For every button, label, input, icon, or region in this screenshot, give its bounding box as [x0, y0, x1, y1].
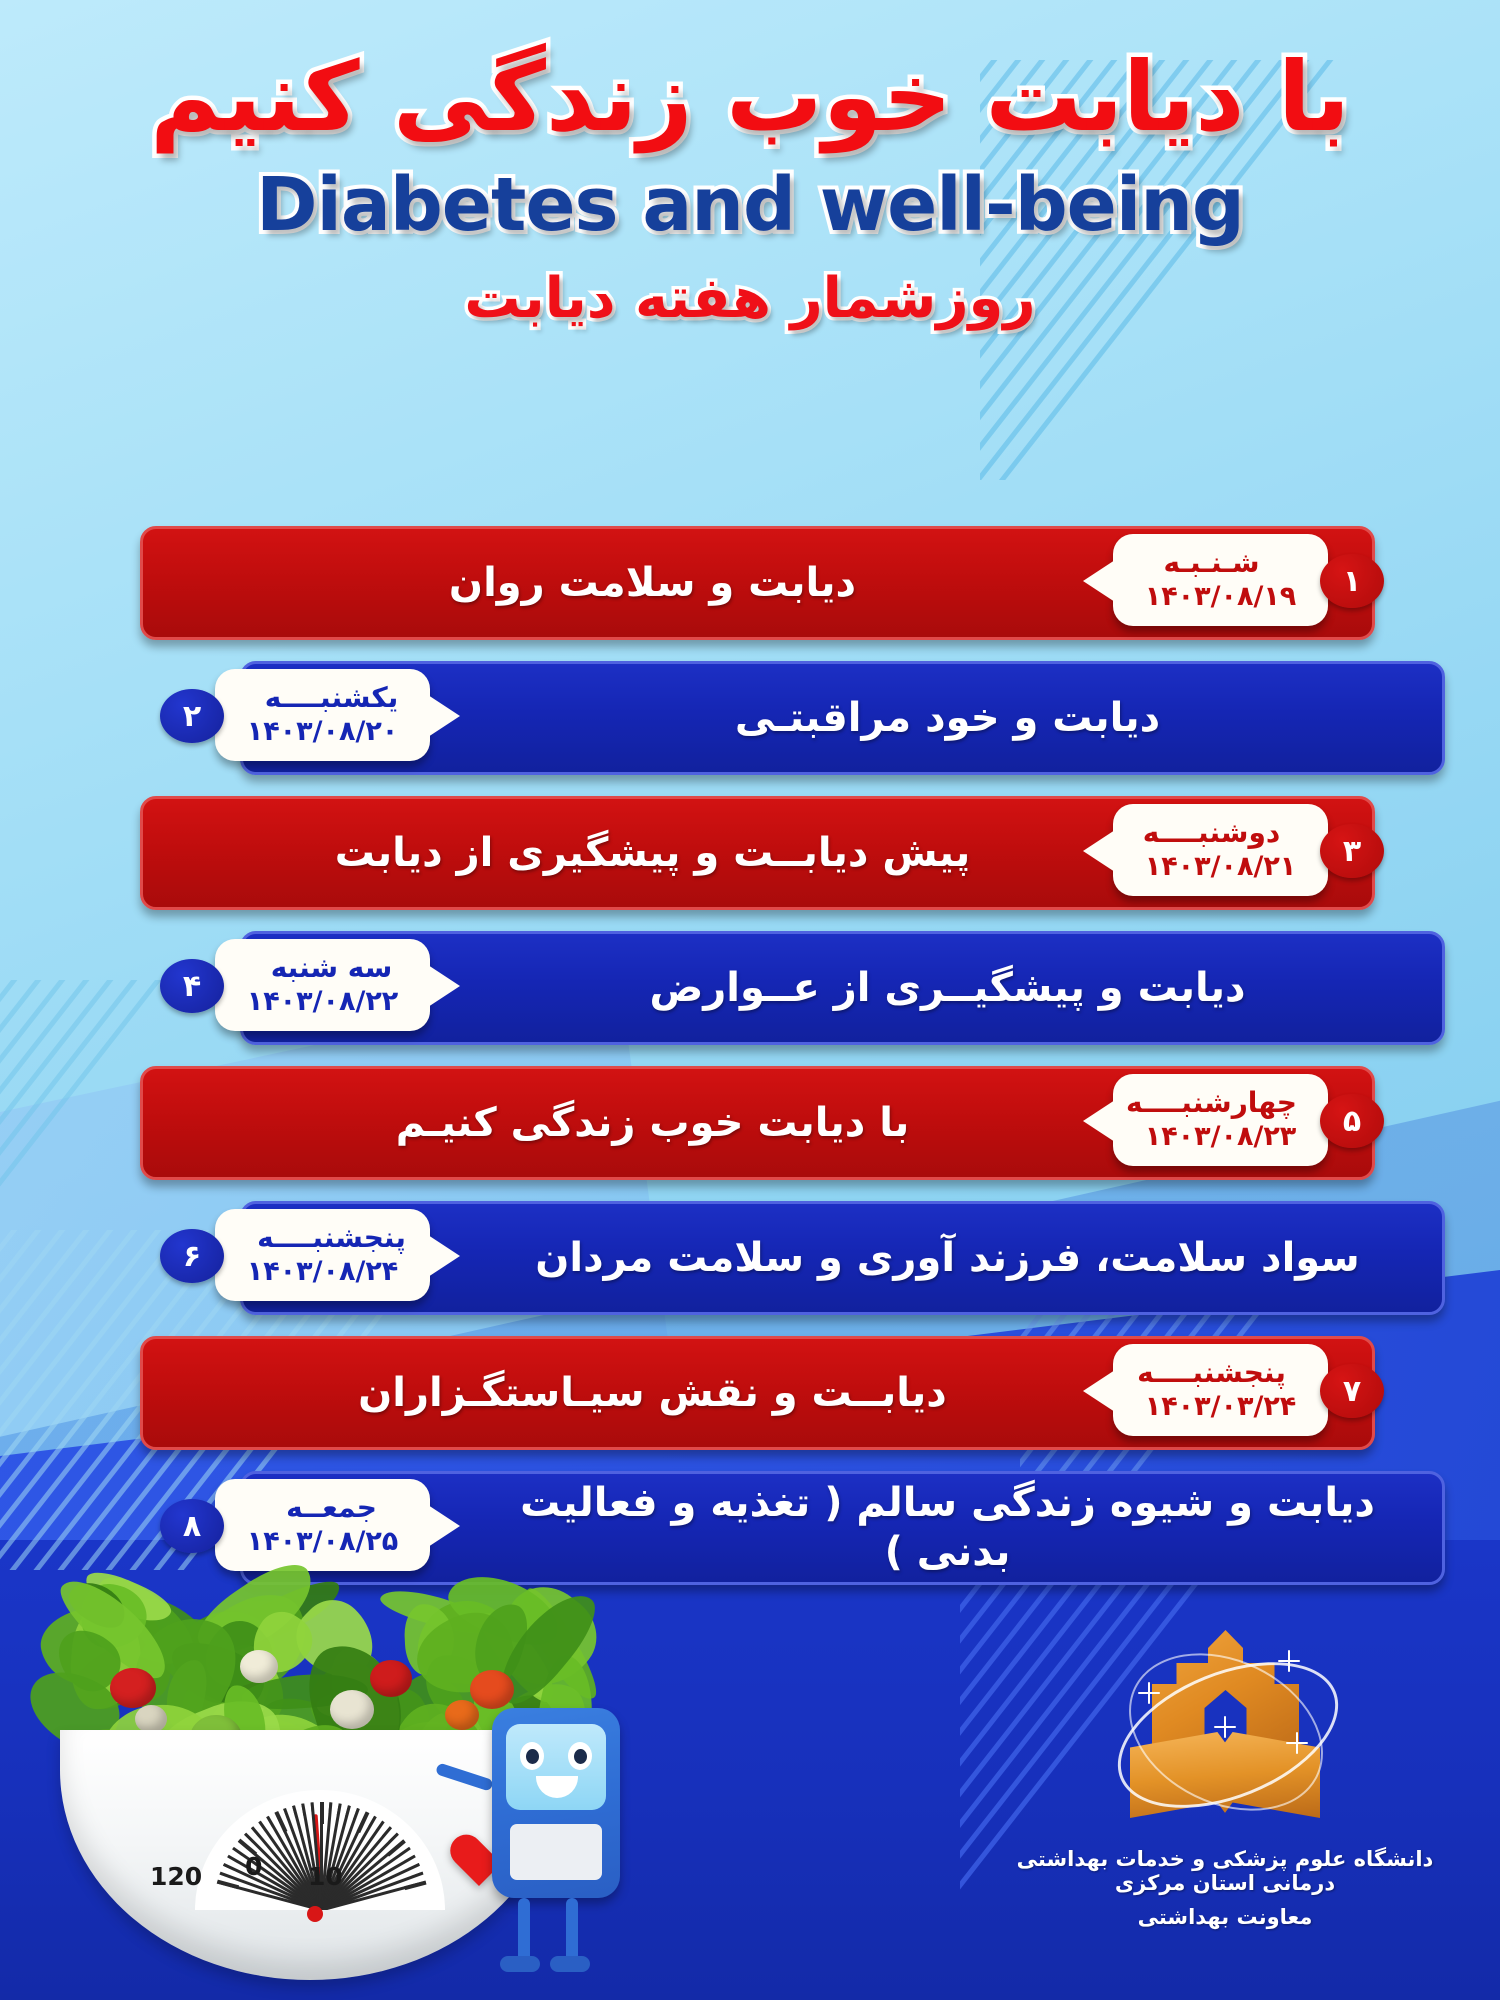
- university-logo: [1110, 1620, 1340, 1835]
- schedule-number-badge: ۳: [1320, 824, 1384, 878]
- mascot-pupil-left: [526, 1749, 539, 1764]
- mascot-face-screen: [506, 1724, 606, 1810]
- scale-needle-hub: [307, 1906, 323, 1922]
- schedule-date-label: ۱۴۰۳/۰۸/۲۲: [247, 986, 399, 1017]
- schedule-number-badge: ۶: [160, 1229, 224, 1283]
- schedule-row: دیابــت و نقش سیـاستگـزارانپنجشنبــــه۱۴…: [0, 1330, 1500, 1455]
- schedule-date-label: ۱۴۰۳/۰۸/۲۱: [1145, 851, 1297, 882]
- mascot-foot-right: [550, 1956, 590, 1972]
- footer-block: دانشگاه علوم پزشکی و خدمات بهداشتی درمان…: [1010, 1620, 1440, 1929]
- schedule-row: پیش دیابــت و پیشگیری از دیابتدوشنبــــه…: [0, 790, 1500, 915]
- schedule-date-bubble: سه شنبه۱۴۰۳/۰۸/۲۲: [215, 939, 430, 1031]
- schedule-day-label: پنجشنبــــه: [257, 1223, 406, 1254]
- schedule-list: دیابت و سلامت روانشـنـبـه۱۴۰۳/۰۸/۱۹۱دیاب…: [0, 520, 1500, 1600]
- schedule-day-label: یکشنبــــه: [265, 683, 398, 714]
- mascot-leg-right: [566, 1898, 578, 1962]
- mascot-test-strip: [510, 1824, 602, 1880]
- mascot-eye-right: [568, 1742, 592, 1770]
- schedule-day-label: شـنـبـه: [1163, 548, 1259, 579]
- schedule-number-badge: ۲: [160, 689, 224, 743]
- schedule-row: دیابت و خود مراقبتـییکشنبــــه۱۴۰۳/۰۸/۲۰…: [0, 655, 1500, 780]
- page-subtitle-fa: روزشمار هفته دیابت: [0, 266, 1500, 331]
- scale-dial: [195, 1790, 445, 1910]
- schedule-day-label: چهارشنبــــه: [1126, 1088, 1297, 1119]
- schedule-number-badge: ۵: [1320, 1094, 1384, 1148]
- sparkle-icon: [1286, 1732, 1308, 1754]
- mascot-pupil-right: [574, 1749, 587, 1764]
- schedule-number-badge: ۱: [1320, 554, 1384, 608]
- scale-number-left: 120: [150, 1862, 202, 1891]
- schedule-date-bubble: پنجشنبــــه۱۴۰۳/۰۳/۲۴: [1113, 1344, 1328, 1436]
- schedule-date-label: ۱۴۰۳/۰۸/۲۴: [247, 1256, 399, 1287]
- schedule-number-badge: ۴: [160, 959, 224, 1013]
- poster-heading-block: با دیابت خوب زندگی کنیم Diabetes and wel…: [0, 46, 1500, 331]
- schedule-date-label: ۱۴۰۳/۰۳/۲۴: [1145, 1391, 1297, 1422]
- mascot-mouth: [536, 1776, 578, 1798]
- sparkle-icon: [1214, 1716, 1236, 1738]
- salad-scale-illustration: 120 0 10: [10, 1540, 630, 2000]
- scale-number-center: 0: [245, 1852, 262, 1881]
- schedule-date-label: ۱۴۰۳/۰۸/۲۰: [247, 716, 399, 747]
- poster-canvas: با دیابت خوب زندگی کنیم Diabetes and wel…: [0, 0, 1500, 2000]
- mascot-leg-left: [518, 1898, 530, 1962]
- sparkle-icon: [1138, 1682, 1160, 1704]
- footer-org-line-1: دانشگاه علوم پزشکی و خدمات بهداشتی درمان…: [1010, 1847, 1440, 1895]
- footer-org-line-2: معاونت بهداشتی: [1010, 1905, 1440, 1929]
- mascot-eye-left: [520, 1742, 544, 1770]
- schedule-row: دیابت و سلامت روانشـنـبـه۱۴۰۳/۰۸/۱۹۱: [0, 520, 1500, 645]
- schedule-date-bubble: چهارشنبــــه۱۴۰۳/۰۸/۲۳: [1113, 1074, 1328, 1166]
- schedule-row: سواد سلامت، فرزند آوری و سلامت مردانپنجش…: [0, 1195, 1500, 1320]
- mascot-foot-left: [500, 1956, 540, 1972]
- glucometer-mascot: [470, 1690, 655, 1990]
- schedule-date-label: ۱۴۰۳/۰۸/۱۹: [1145, 581, 1297, 612]
- schedule-date-label: ۱۴۰۳/۰۸/۲۳: [1145, 1121, 1297, 1152]
- page-title-en: Diabetes and well-being: [0, 162, 1500, 248]
- scale-number-right: 10: [308, 1862, 343, 1891]
- schedule-date-bubble: یکشنبــــه۱۴۰۳/۰۸/۲۰: [215, 669, 430, 761]
- sparkle-icon: [1278, 1650, 1300, 1672]
- schedule-row: دیابت و پیشگیــری از عــوارضسه شنبه۱۴۰۳/…: [0, 925, 1500, 1050]
- schedule-date-bubble: دوشنبــــه۱۴۰۳/۰۸/۲۱: [1113, 804, 1328, 896]
- page-title-fa: با دیابت خوب زندگی کنیم: [120, 46, 1380, 150]
- mascot-body: [492, 1708, 620, 1898]
- schedule-date-bubble: شـنـبـه۱۴۰۳/۰۸/۱۹: [1113, 534, 1328, 626]
- schedule-day-label: پنجشنبــــه: [1137, 1358, 1286, 1389]
- salad-vegetable: [370, 1660, 412, 1697]
- schedule-number-badge: ۷: [1320, 1364, 1384, 1418]
- schedule-row: با دیابت خوب زندگی کنیـمچهارشنبــــه۱۴۰۳…: [0, 1060, 1500, 1185]
- schedule-date-bubble: پنجشنبــــه۱۴۰۳/۰۸/۲۴: [215, 1209, 430, 1301]
- schedule-day-label: سه شنبه: [271, 953, 393, 984]
- schedule-day-label: جمعــه: [286, 1493, 377, 1524]
- schedule-day-label: دوشنبــــه: [1143, 818, 1280, 849]
- salad-vegetable: [330, 1690, 374, 1729]
- salad-vegetable: [135, 1705, 167, 1733]
